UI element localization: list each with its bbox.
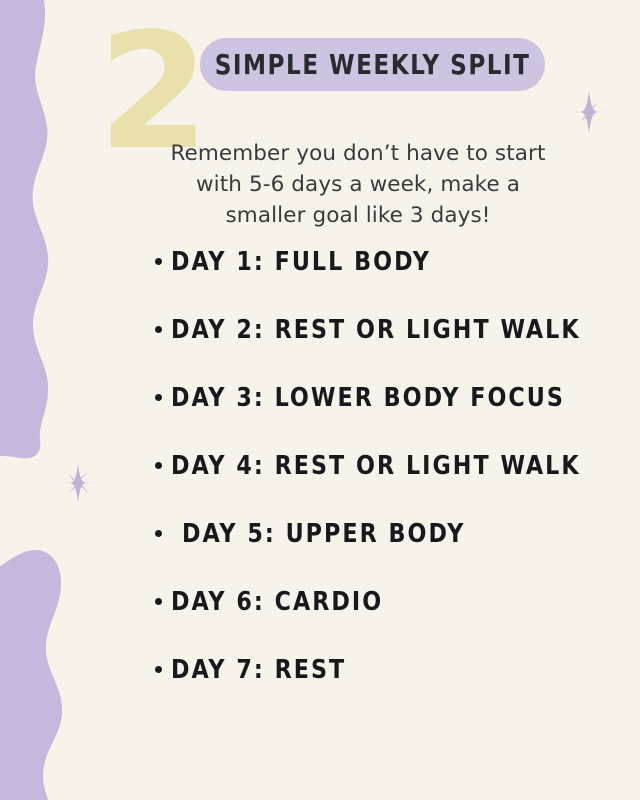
list-item: DAY 4: REST OR LIGHT WALK bbox=[155, 451, 625, 519]
bullet-icon bbox=[155, 530, 162, 537]
blob-bottom-left-icon bbox=[0, 550, 62, 800]
blob-top-left-icon bbox=[0, 0, 48, 458]
list-item: DAY 6: CARDIO bbox=[155, 587, 625, 655]
list-item-label: DAY 2: REST OR LIGHT WALK bbox=[171, 315, 581, 345]
list-item-label: DAY 7: REST bbox=[171, 655, 346, 685]
list-item: DAY 1: FULL BODY bbox=[155, 247, 625, 315]
list-item: DAY 7: REST bbox=[155, 655, 625, 723]
title-badge: SIMPLE WEEKLY SPLIT bbox=[200, 38, 545, 91]
bullet-icon bbox=[155, 462, 162, 469]
list-item: DAY 2: REST OR LIGHT WALK bbox=[155, 315, 625, 383]
list-item: DAY 5: UPPER BODY bbox=[155, 519, 625, 587]
page-title: SIMPLE WEEKLY SPLIT bbox=[215, 48, 531, 81]
list-item-label: DAY 6: CARDIO bbox=[171, 587, 383, 617]
bullet-icon bbox=[155, 326, 162, 333]
list-item-label: DAY 3: LOWER BODY FOCUS bbox=[171, 383, 565, 413]
bullet-icon bbox=[155, 258, 162, 265]
sparkle-icon bbox=[58, 463, 98, 503]
list-item-label: DAY 4: REST OR LIGHT WALK bbox=[171, 451, 581, 481]
sparkle-icon bbox=[567, 90, 611, 134]
subtitle-text: Remember you don’t have to start with 5-… bbox=[158, 138, 558, 231]
bullet-icon bbox=[155, 666, 162, 673]
list-item-label: DAY 5: UPPER BODY bbox=[182, 519, 465, 549]
bullet-icon bbox=[155, 394, 162, 401]
poster-canvas: 2 SIMPLE WEEKLY SPLIT Remember you don’t… bbox=[0, 0, 640, 800]
list-item-label: DAY 1: FULL BODY bbox=[171, 247, 431, 277]
bullet-icon bbox=[155, 598, 162, 605]
list-item: DAY 3: LOWER BODY FOCUS bbox=[155, 383, 625, 451]
day-list: DAY 1: FULL BODYDAY 2: REST OR LIGHT WAL… bbox=[155, 247, 625, 723]
